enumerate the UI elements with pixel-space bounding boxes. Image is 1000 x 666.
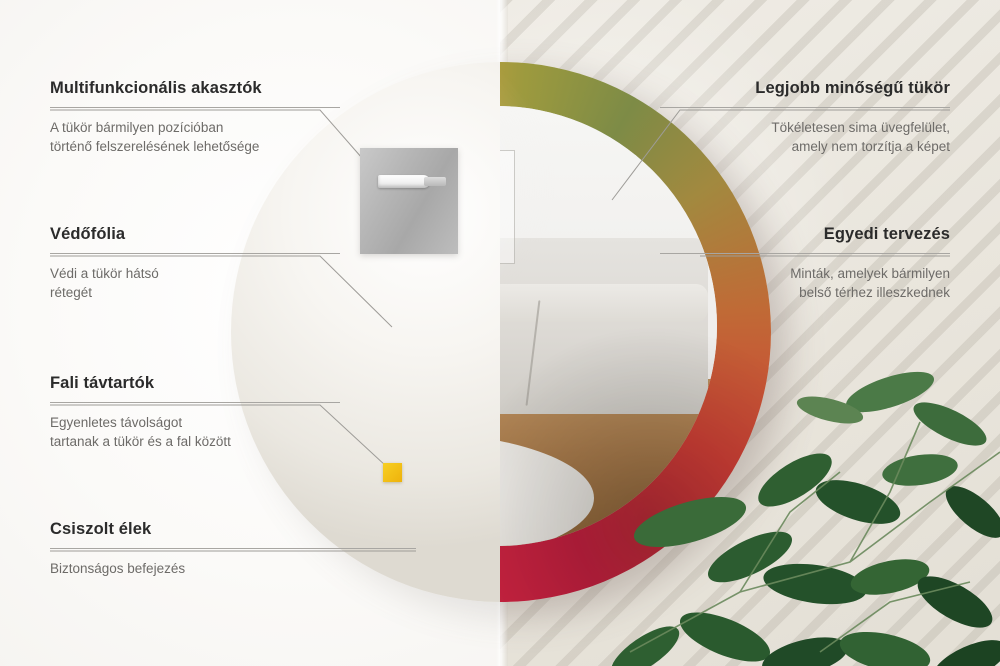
- infographic-canvas: Multifunkcionális akasztók A tükör bármi…: [0, 0, 1000, 666]
- feature-description: Egyenletes távolságot tartanak a tükör é…: [50, 413, 340, 451]
- hanger-bracket-detail: [360, 148, 458, 254]
- feature-description: Biztonságos befejezés: [50, 559, 416, 578]
- feature-legjobb-minosegu-tukor: Legjobb minőségű tükör Tökéletesen sima …: [660, 79, 950, 156]
- feature-description: A tükör bármilyen pozícióban történő fel…: [50, 118, 340, 156]
- feature-egyedi-tervezes: Egyedi tervezés Minták, amelyek bármilye…: [660, 225, 950, 302]
- feature-title: Fali távtartók: [50, 374, 340, 393]
- feature-rule: [50, 548, 416, 549]
- feature-description: Védi a tükör hátsó rétegét: [50, 264, 340, 302]
- feature-description: Tökéletesen sima üvegfelület, amely nem …: [660, 118, 950, 156]
- feature-description: Minták, amelyek bármilyen belső térhez i…: [660, 264, 950, 302]
- feature-fali-tavtartok: Fali távtartók Egyenletes távolságot tar…: [50, 374, 340, 451]
- feature-csiszolt-elek: Csiszolt élek Biztonságos befejezés: [50, 520, 416, 578]
- feature-title: Multifunkcionális akasztók: [50, 79, 340, 98]
- feature-title: Védőfólia: [50, 225, 340, 244]
- feature-title: Egyedi tervezés: [660, 225, 950, 244]
- feature-title: Legjobb minőségű tükör: [660, 79, 950, 98]
- hanger-slot-shadow: [424, 177, 446, 186]
- feature-multifunkcionalis-akasztok: Multifunkcionális akasztók A tükör bármi…: [50, 79, 340, 156]
- feature-rule: [660, 253, 950, 254]
- feature-vedofolia: Védőfólia Védi a tükör hátsó rétegét: [50, 225, 340, 302]
- feature-rule: [50, 253, 340, 254]
- feature-title: Csiszolt élek: [50, 520, 416, 539]
- feature-rule: [50, 107, 340, 108]
- feature-rule: [50, 402, 340, 403]
- feature-rule: [660, 107, 950, 108]
- wall-spacer-detail: [383, 463, 402, 482]
- hanger-slot: [378, 175, 430, 188]
